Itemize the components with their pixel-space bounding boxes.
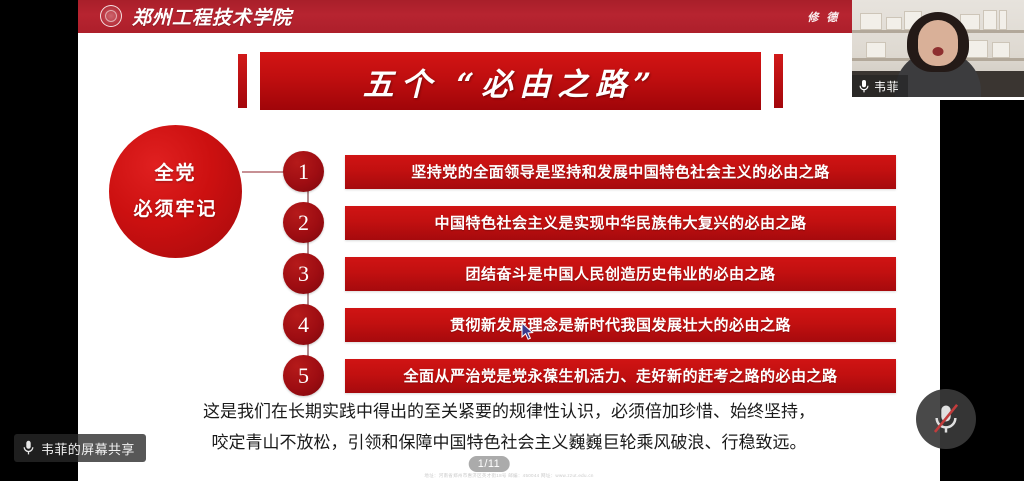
item-number: 1 [283,151,324,192]
shelf-box [866,42,886,58]
participant-name: 韦菲 [874,78,899,95]
page-indicator: 1/11 [469,456,510,472]
microphone-muted-icon [932,403,960,435]
shelf-box [999,10,1007,30]
item-number: 3 [283,253,324,294]
tile-underline [852,97,1024,100]
item-number: 5 [283,355,324,396]
participant-name-badge: 韦菲 [852,75,908,97]
participant-face [918,20,958,66]
item-bar: 贯彻新发展理念是新时代我国发展壮大的必由之路 [345,308,896,342]
microphone-icon [859,79,869,94]
item-text: 坚持党的全面领导是坚持和发展中国特色社会主义的必由之路 [411,161,830,182]
list-item: 1 坚持党的全面领导是坚持和发展中国特色社会主义的必由之路 [283,151,896,192]
item-bar: 团结奋斗是中国人民创造历史伟业的必由之路 [345,257,896,291]
list-item: 2 中国特色社会主义是实现中华民族伟大复兴的必由之路 [283,202,896,243]
item-text: 团结奋斗是中国人民创造历史伟业的必由之路 [465,263,775,284]
shelf-box [983,10,997,30]
list-item: 3 团结奋斗是中国人民创造历史伟业的必由之路 [283,253,896,294]
shelf-box [992,42,1010,58]
participant-video-tile[interactable]: 韦菲 [852,0,1024,97]
list-item: 4 贯彻新发展理念是新时代我国发展壮大的必由之路 [283,304,896,345]
item-bar: 全面从严治党是党永葆生机活力、走好新的赶考之路的必由之路 [345,359,896,393]
paragraph-line-2: 咬定青山不放松，引领和保障中国特色社会主义巍巍巨轮乘风破浪、行稳致远。 [100,427,918,458]
item-number: 2 [283,202,324,243]
screen-share-viewport: 郑州工程技术学院 修德 敬学 强 五个 “必由之路” 全党 必须牢记 1 坚持党… [0,0,1024,481]
shelf-box [860,13,882,30]
list-item: 5 全面从严治党是党永葆生机活力、走好新的赶考之路的必由之路 [283,355,896,396]
item-number: 4 [283,304,324,345]
presentation-slide: 郑州工程技术学院 修德 敬学 强 五个 “必由之路” 全党 必须牢记 1 坚持党… [78,0,940,481]
slide-paragraph: 这是我们在长期实践中得出的至关紧要的规律性认识，必须倍加珍惜、始终坚持， 咬定青… [100,396,918,459]
participant-mouth [933,47,944,56]
mute-button[interactable] [916,389,976,449]
screen-share-label-text: 韦菲的屏幕共享 [41,439,135,458]
item-bar: 坚持党的全面领导是坚持和发展中国特色社会主义的必由之路 [345,155,896,189]
item-bar: 中国特色社会主义是实现中华民族伟大复兴的必由之路 [345,206,896,240]
item-text: 贯彻新发展理念是新时代我国发展壮大的必由之路 [450,314,791,335]
item-text: 中国特色社会主义是实现中华民族伟大复兴的必由之路 [434,212,806,233]
paragraph-line-1: 这是我们在长期实践中得出的至关紧要的规律性认识，必须倍加珍惜、始终坚持， [100,396,918,427]
slide-footer: 地址：河南省郑州市惠济区英才街18号 邮编：450044 网址：www.zzut… [78,473,940,479]
screen-share-label: 韦菲的屏幕共享 [14,434,146,462]
microphone-icon [23,440,34,456]
shelf-box [886,17,902,30]
item-text: 全面从严治党是党永葆生机活力、走好新的赶考之路的必由之路 [403,365,837,386]
